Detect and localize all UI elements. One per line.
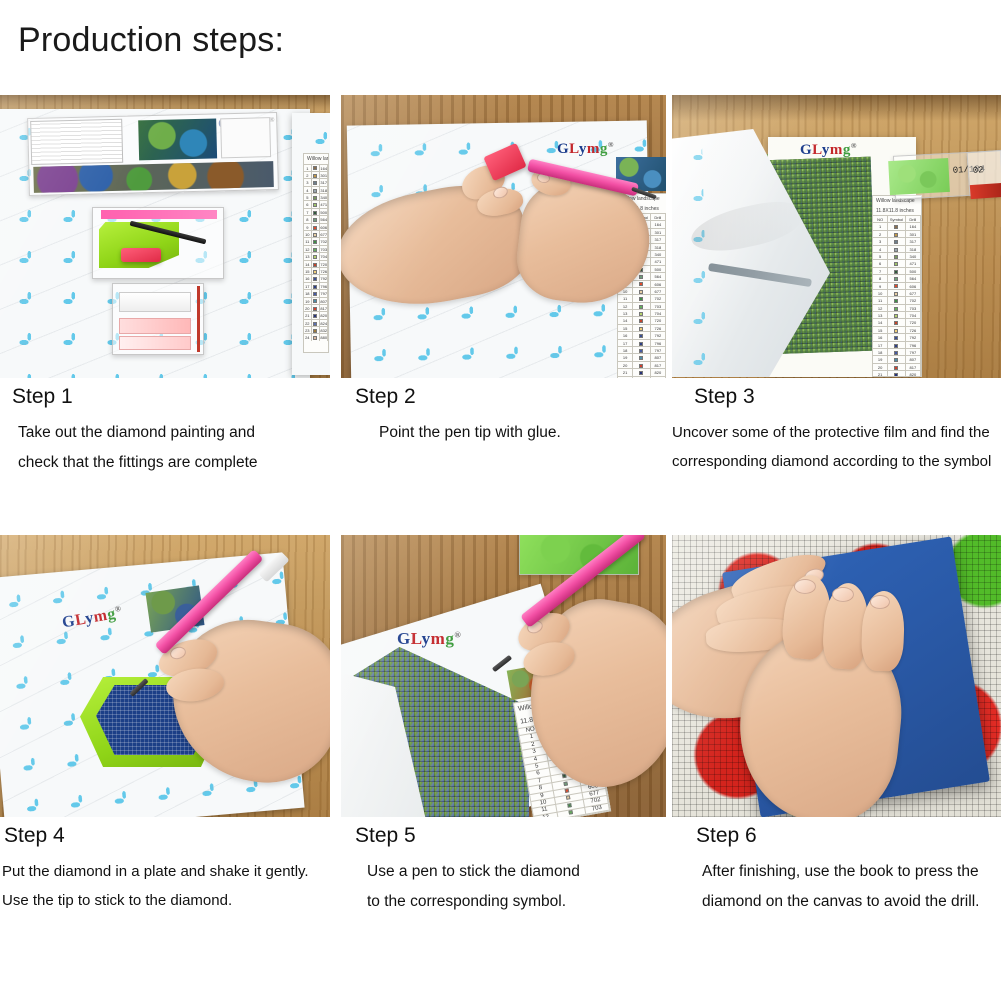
chart-cell-drill: 820 (906, 370, 921, 377)
chart-cell-symbol (888, 296, 906, 303)
chart-cell-symbol (888, 326, 906, 333)
production-steps-page: Production steps: Willow landscape 11642… (0, 0, 1001, 1001)
chart-cell-no: 2 (873, 230, 888, 237)
chart-cell-drill: 817 (320, 304, 328, 311)
step-4-line-2: Use the tip to stick to the diamond. (0, 886, 330, 915)
chart-cell-symbol (312, 208, 321, 215)
bag-label-02: 02 (972, 165, 983, 176)
chart-cell-drill: 500 (651, 265, 666, 272)
right-hand-nail-3 (870, 595, 890, 609)
chart-cell-drill: 702 (320, 237, 328, 244)
chart-cell-no: 13 (618, 309, 633, 316)
drill-bag-sealed (27, 112, 279, 196)
step-6-line-1: After finishing, use the book to press t… (672, 857, 1001, 887)
chart-cell-drill: 824 (320, 319, 328, 326)
chart-cell-drill: 797 (320, 289, 328, 296)
chart-cell-no: 1 (873, 222, 888, 229)
chart-cell-symbol (888, 274, 906, 281)
brand-logo: GLymg® (800, 141, 857, 159)
right-hand-nail-1 (794, 579, 816, 594)
step-4-line-1: Put the diamond in a plate and shake it … (0, 857, 330, 886)
white-label (220, 117, 271, 158)
chart-cell-symbol (888, 348, 906, 355)
chart-cell-symbol (888, 230, 906, 237)
brand-logo: GLymg® (557, 140, 614, 158)
chart-cell-drill: 500 (320, 208, 328, 215)
chart-cell-no: 20 (618, 361, 633, 368)
chart-cell-no: 17 (618, 339, 633, 346)
chart-cell-no: 20 (873, 363, 888, 370)
chart-cell-no: 19 (618, 353, 633, 360)
chart-cell-symbol (633, 324, 651, 331)
chart-cell-symbol (888, 333, 906, 340)
chart-cell-drill: 726 (320, 267, 328, 274)
chart-cell-no: 16 (618, 331, 633, 338)
chart-cell-symbol (633, 361, 651, 368)
chart-cell-symbol (888, 363, 906, 370)
chart-cell-drill: 317 (320, 178, 328, 185)
chart-cell-no: 9 (304, 223, 312, 230)
chart-cell-symbol (888, 304, 906, 311)
chart-cell-symbol (312, 223, 321, 230)
chart-cell-drill: 301 (320, 171, 328, 178)
chart-cell-drill: 820 (651, 368, 666, 375)
chart-cell-no: 19 (873, 355, 888, 362)
chart-cell-no: 9 (873, 282, 888, 289)
chart-cell-drill: 606 (320, 223, 328, 230)
chart-cell-no: 16 (304, 274, 312, 281)
tool-bag (92, 207, 224, 279)
chart-cell-no: 5 (873, 252, 888, 259)
chart-cell-symbol (312, 333, 321, 340)
chart-cell-drill: 704 (651, 309, 666, 316)
chart-cell-no: 6 (873, 259, 888, 266)
chart-cell-symbol (633, 294, 651, 301)
step-card-2: GLymg® Willow landscape 11.8X11.8 inches… (341, 95, 666, 448)
chart-cell-drill: 720 (906, 318, 921, 325)
chart-cell-drill: 606 (906, 282, 921, 289)
step-5-line-1: Use a pen to stick the diamond (341, 857, 666, 887)
spare-bag-1 (119, 292, 191, 312)
chart-cell-drill: 796 (906, 341, 921, 348)
chart-cell-drill: 832 (320, 326, 328, 333)
chart-cell-no: 7 (304, 208, 312, 215)
chart-cell-no: 14 (618, 316, 633, 323)
chart-label-in-bag (30, 119, 123, 165)
chart-cell-drill: 720 (651, 316, 666, 323)
chart-grid-partial: 1164230133174318534064717500856496061067… (304, 164, 328, 341)
chart-cell-no: 14 (873, 318, 888, 325)
chart-cell-no: 13 (873, 311, 888, 318)
step-6-line-2: diamond on the canvas to avoid the drill… (672, 887, 1001, 917)
chart-cell-drill: 301 (906, 230, 921, 237)
chart-cell-no: 4 (304, 186, 312, 193)
chart-cell-no: 15 (304, 267, 312, 274)
spare-bag-3 (119, 336, 191, 350)
chart-cell-no: 15 (873, 326, 888, 333)
chart-cell-no: 18 (618, 346, 633, 353)
chart-cell-symbol (312, 230, 321, 237)
chart-cell-drill: 704 (906, 311, 921, 318)
chart-cell-drill: 471 (320, 200, 328, 207)
symbol-chart: Willow landscape 11.8X11.8 inches NOSymb… (872, 195, 922, 377)
spare-bag-2 (119, 318, 191, 334)
chart-cell-no: 1 (304, 164, 312, 171)
chart-cell-drill: 796 (651, 339, 666, 346)
chart-cell-no: 8 (873, 274, 888, 281)
chart-cell-no: 22 (618, 376, 633, 378)
step-1-line-1: Take out the diamond painting and (0, 418, 330, 448)
step-1-photo: Willow landscape 11642301331743185340647… (0, 95, 330, 378)
brand-logo: GLymg® (397, 629, 461, 649)
chart-cell-symbol (633, 353, 651, 360)
chart-cell-drill: 792 (651, 331, 666, 338)
chart-cell-no: 14 (304, 260, 312, 267)
chart-cell-symbol (888, 245, 906, 252)
chart-header-cell: NO (873, 215, 888, 222)
chart-cell-symbol (312, 274, 321, 281)
chart-cell-symbol (633, 287, 651, 294)
chart-cell-symbol (888, 222, 906, 229)
chart-cell-drill: 564 (906, 274, 921, 281)
chart-cell-symbol (312, 252, 321, 259)
chart-cell-drill: 164 (320, 164, 328, 171)
chart-cell-symbol (312, 260, 321, 267)
step-5-label: Step 5 (341, 823, 666, 848)
chart-cell-symbol (312, 215, 321, 222)
chart-cell-symbol (633, 331, 651, 338)
chart-cell-no: 24 (304, 333, 312, 340)
chart-cell-symbol (888, 267, 906, 274)
step-card-4: GLymg® Step 4 Put the diamond in a plate (0, 535, 330, 916)
chart-cell-drill: 564 (651, 272, 666, 279)
chart-cell-drill: 340 (906, 252, 921, 259)
chart-cell-no: 12 (618, 302, 633, 309)
chart-cell-symbol (312, 311, 321, 318)
chart-cell-drill: 340 (651, 250, 666, 257)
step-5-line-2: to the corresponding symbol. (341, 887, 666, 917)
step-4-photo: GLymg® (0, 535, 330, 817)
chart-cell-symbol (888, 252, 906, 259)
step-card-5: GLymg® Willow landscape 11.8X11.8 inches… (341, 535, 666, 918)
chart-cell-drill: 807 (320, 297, 328, 304)
chart-cell-drill: 807 (906, 355, 921, 362)
chart-cell-drill: 824 (651, 376, 666, 378)
chart-cell-symbol (312, 289, 321, 296)
chart-cell-no: 12 (304, 245, 312, 252)
chart-cell-no: 11 (304, 237, 312, 244)
chart-cell-drill: 318 (320, 186, 328, 193)
chart-cell-no: 20 (304, 304, 312, 311)
chart-cell-drill: 702 (906, 296, 921, 303)
chart-cell-drill: 318 (651, 243, 666, 250)
chart-cell-symbol (888, 289, 906, 296)
chart-cell-no: 11 (618, 294, 633, 301)
chart-cell-drill: 500 (906, 267, 921, 274)
design-preview-image (138, 118, 217, 160)
chart-cell-drill: 796 (320, 282, 328, 289)
step-4-label: Step 4 (0, 823, 330, 848)
chart-cell-no: 8 (304, 215, 312, 222)
chart-cell-drill: 792 (906, 333, 921, 340)
chart-header-cell: Symbol (888, 215, 906, 222)
chart-cell-symbol (312, 297, 321, 304)
step-3-photo: GLymg® Willow landscape 11.8X11.8 inches… (672, 95, 1001, 378)
chart-cell-no: 4 (873, 245, 888, 252)
chart-cell-drill: 880 (320, 333, 328, 340)
chart-cell-symbol (312, 200, 321, 207)
chart-cell-no: 10 (304, 230, 312, 237)
chart-size-label: 11.8X11.8 inches (873, 206, 921, 216)
chart-cell-drill: 317 (906, 237, 921, 244)
chart-cell-drill: 807 (651, 353, 666, 360)
chart-cell-no: 19 (304, 297, 312, 304)
chart-cell-drill: 677 (651, 287, 666, 294)
chart-cell-symbol (888, 355, 906, 362)
chart-cell-symbol (312, 237, 321, 244)
step-6-label: Step 6 (672, 823, 1001, 848)
chart-cell-drill: 820 (320, 311, 328, 318)
chart-cell-drill: 677 (906, 289, 921, 296)
chart-cell-no: 3 (304, 178, 312, 185)
wood-edge (672, 95, 1001, 121)
chart-cell-no: 18 (304, 289, 312, 296)
chart-cell-drill: 317 (651, 235, 666, 242)
chart-cell-symbol (888, 237, 906, 244)
chart-cell-no: 5 (304, 193, 312, 200)
step-6-photo (672, 535, 1001, 817)
bag-zip-strip (101, 210, 217, 219)
chart-cell-no: 15 (618, 324, 633, 331)
step-card-3: GLymg® Willow landscape 11.8X11.8 inches… (672, 95, 1001, 477)
chart-cell-drill: 703 (906, 304, 921, 311)
chart-cell-symbol (312, 193, 321, 200)
chart-cell-drill: 704 (320, 252, 328, 259)
chart-cell-drill: 703 (651, 302, 666, 309)
red-wax (121, 248, 161, 262)
chart-cell-symbol (633, 316, 651, 323)
chart-cell-symbol (888, 282, 906, 289)
step-2-line-1: Point the pen tip with glue. (341, 418, 666, 448)
step-3-line-2: corresponding diamond according to the s… (672, 447, 1001, 476)
chart-cell-symbol (312, 282, 321, 289)
chart-cell-no: 2 (304, 171, 312, 178)
step-1-label: Step 1 (0, 384, 330, 409)
chart-cell-symbol (312, 267, 321, 274)
loose-drills-in-bag (33, 161, 274, 193)
chart-cell-symbol (633, 368, 651, 375)
chart-cell-no: 21 (873, 370, 888, 377)
step-5-photo: GLymg® Willow landscape 11.8X11.8 inches… (341, 535, 666, 817)
chart-cell-no: 21 (304, 311, 312, 318)
chart-cell-drill: 318 (906, 245, 921, 252)
chart-cell-drill: 164 (651, 220, 666, 227)
spare-bags (112, 283, 204, 355)
chart-cell-symbol (633, 346, 651, 353)
chart-grid: NOSymbolDrill116423013317431853406471750… (873, 215, 921, 377)
chart-cell-symbol (312, 164, 321, 171)
chart-cell-symbol (312, 178, 321, 185)
chart-cell-symbol (312, 326, 321, 333)
chart-cell-symbol (888, 318, 906, 325)
chart-cell-symbol (888, 311, 906, 318)
chart-cell-no: 7 (873, 267, 888, 274)
chart-cell-symbol (633, 309, 651, 316)
chart-cell-drill: 340 (320, 193, 328, 200)
chart-header-cell: Drill (651, 213, 666, 220)
chart-cell-symbol (312, 171, 321, 178)
chart-cell-drill: 471 (906, 259, 921, 266)
chart-title-partial: Willow landscape (304, 154, 328, 164)
chart-cell-drill: 301 (651, 228, 666, 235)
green-drills (888, 158, 950, 195)
chart-cell-no: 12 (873, 304, 888, 311)
chart-cell-no: 23 (304, 326, 312, 333)
drill-bag-02: 02 (967, 150, 1001, 196)
chart-cell-drill: 720 (320, 260, 328, 267)
chart-cell-no: 22 (304, 319, 312, 326)
chart-cell-drill: 703 (320, 245, 328, 252)
step-3-label: Step 3 (672, 384, 1001, 409)
chart-cell-symbol (888, 341, 906, 348)
chart-cell-no: 11 (873, 296, 888, 303)
chart-cell-symbol (633, 339, 651, 346)
page-title: Production steps: (18, 22, 284, 59)
chart-cell-no: 17 (873, 341, 888, 348)
chart-cell-no: 13 (304, 252, 312, 259)
chart-cell-drill: 797 (651, 346, 666, 353)
chart-cell-drill: 726 (651, 324, 666, 331)
chart-cell-symbol (633, 376, 651, 378)
step-3-line-1: Uncover some of the protective film and … (672, 418, 1001, 447)
pen-rod (197, 286, 200, 352)
chart-cell-no: 10 (873, 289, 888, 296)
chart-cell-drill: 564 (320, 215, 328, 222)
chart-cell-no: 3 (873, 237, 888, 244)
chart-cell-drill: 471 (651, 257, 666, 264)
chart-cell-symbol (312, 186, 321, 193)
chart-cell-drill: 606 (651, 280, 666, 287)
step-2-photo: GLymg® Willow landscape 11.8X11.8 inches… (341, 95, 666, 378)
step-2-label: Step 2 (341, 384, 666, 409)
chart-cell-symbol (633, 302, 651, 309)
chart-cell-drill: 792 (320, 274, 328, 281)
chart-cell-drill: 797 (906, 348, 921, 355)
step-card-6: Step 6 After finishing, use the book to … (672, 535, 1001, 918)
chart-cell-drill: 702 (651, 294, 666, 301)
chart-header-cell: Drill (906, 215, 921, 222)
chart-cell-symbol (888, 259, 906, 266)
chart-cell-no: 16 (873, 333, 888, 340)
chart-cell-no: 18 (873, 348, 888, 355)
symbol-chart-partial: Willow landscape 11642301331743185340647… (303, 153, 329, 353)
step-card-1: Willow landscape 11642301331743185340647… (0, 95, 330, 479)
chart-cell-drill: 817 (651, 361, 666, 368)
chart-cell-drill: 726 (906, 326, 921, 333)
step-1-line-2: check that the fittings are complete (0, 448, 330, 478)
chart-cell-symbol (888, 370, 906, 377)
chart-cell-symbol (312, 319, 321, 326)
chart-cell-no: 21 (618, 368, 633, 375)
chart-cell-no: 6 (304, 200, 312, 207)
chart-cell-drill: 817 (906, 363, 921, 370)
chart-cell-symbol (312, 245, 321, 252)
right-hand-nail-2 (832, 587, 854, 602)
chart-cell-symbol (633, 280, 651, 287)
red-drills (970, 183, 1001, 199)
chart-cell-drill: 164 (906, 222, 921, 229)
chart-cell-no: 17 (304, 282, 312, 289)
chart-cell-symbol (312, 304, 321, 311)
chart-cell-drill: 677 (320, 230, 328, 237)
